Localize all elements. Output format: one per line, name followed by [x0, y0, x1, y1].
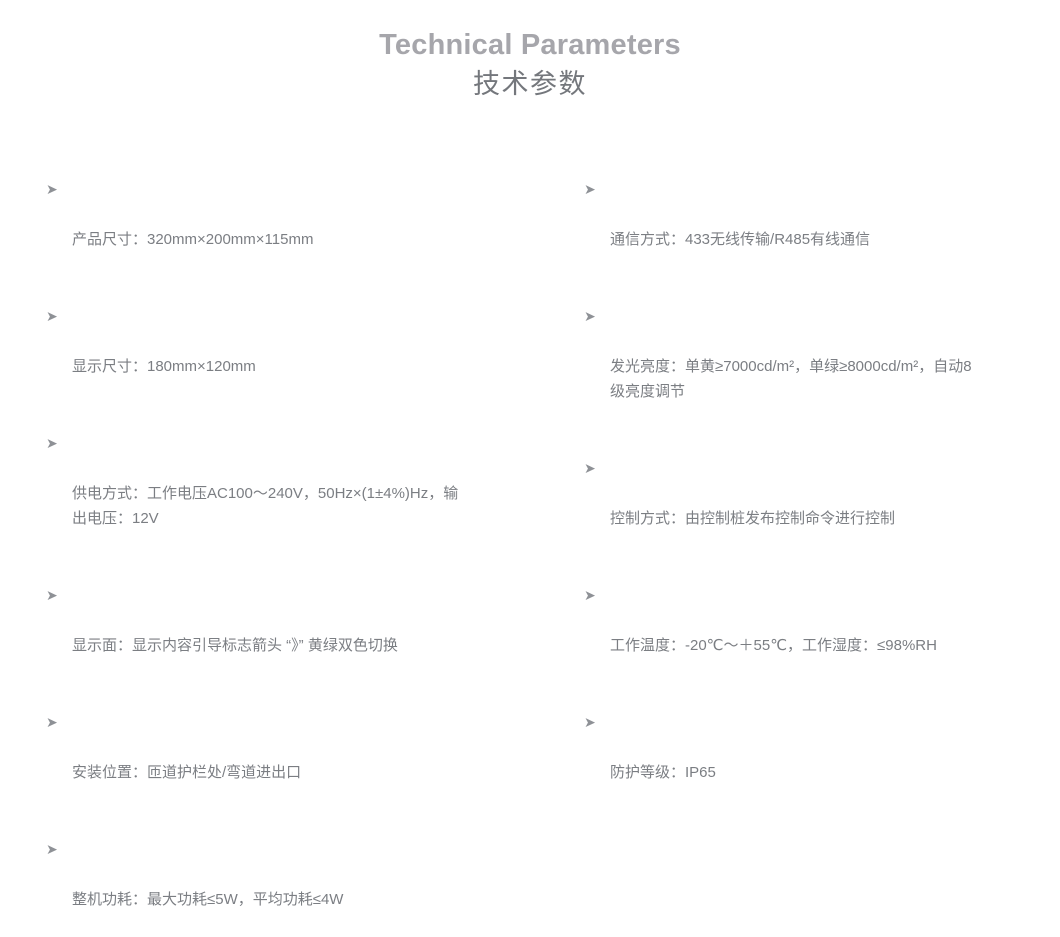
arrow-bullet-icon: ➤ — [46, 837, 64, 862]
arrow-bullet-icon: ➤ — [584, 177, 602, 202]
spec-item-control-method: ➤ 控制方式：由控制桩发布控制命令进行控制 — [584, 456, 1014, 556]
arrow-bullet-icon: ➤ — [46, 304, 64, 329]
spec-item-text: 防护等级：IP65 — [610, 760, 1014, 785]
spec-item-installation-location: ➤ 安装位置：匝道护栏处/弯道进出口 — [46, 710, 556, 810]
spec-item-text: 显示面：显示内容引导标志箭头 “》” 黄绿双色切换 — [72, 633, 556, 658]
spec-item-text: 通信方式：433无线传输/R485有线通信 — [610, 227, 1014, 252]
arrow-bullet-icon: ➤ — [46, 583, 64, 608]
spec-column-left: ➤ 产品尺寸：320mm×200mm×115mm ➤ 显示尺寸：180mm×12… — [46, 177, 556, 937]
spec-item-operating-temperature: ➤ 工作温度：-20℃～＋55℃，工作湿度：≤98%RH — [584, 583, 1014, 683]
spec-item-text: 产品尺寸：320mm×200mm×115mm — [72, 227, 556, 252]
specifications-section: ➤ 产品尺寸：320mm×200mm×115mm ➤ 显示尺寸：180mm×12… — [0, 177, 1060, 497]
page-title-english: Technical Parameters — [0, 28, 1060, 62]
spec-item-text: 安装位置：匝道护栏处/弯道进出口 — [72, 760, 556, 785]
arrow-bullet-icon: ➤ — [584, 304, 602, 329]
spec-item-power-supply: ➤ 供电方式：工作电压AC100～240V，50Hz×(1±4%)Hz，输 出电… — [46, 431, 556, 556]
page-header: Technical Parameters 技术参数 — [0, 28, 1060, 102]
arrow-bullet-icon: ➤ — [584, 583, 602, 608]
spec-item-text: 发光亮度：单黄≥7000cd/m²，单绿≥8000cd/m²，自动8 级亮度调节 — [610, 354, 1014, 404]
spec-item-protection-rating: ➤ 防护等级：IP65 — [584, 710, 1014, 810]
spec-column-right: ➤ 通信方式：433无线传输/R485有线通信 ➤ 发光亮度：单黄≥7000cd… — [584, 177, 1014, 810]
arrow-bullet-icon: ➤ — [584, 710, 602, 735]
spec-item-text: 控制方式：由控制桩发布控制命令进行控制 — [610, 506, 1014, 531]
spec-item-display-surface: ➤ 显示面：显示内容引导标志箭头 “》” 黄绿双色切换 — [46, 583, 556, 683]
spec-item-text: 显示尺寸：180mm×120mm — [72, 354, 556, 379]
spec-item-communication-method: ➤ 通信方式：433无线传输/R485有线通信 — [584, 177, 1014, 277]
spec-item-text: 整机功耗：最大功耗≤5W，平均功耗≤4W — [72, 887, 556, 912]
spec-item-text: 供电方式：工作电压AC100～240V，50Hz×(1±4%)Hz，输 出电压：… — [72, 481, 556, 531]
arrow-bullet-icon: ➤ — [584, 456, 602, 481]
arrow-bullet-icon: ➤ — [46, 710, 64, 735]
spec-item-product-dimensions: ➤ 产品尺寸：320mm×200mm×115mm — [46, 177, 556, 277]
spec-item-text: 工作温度：-20℃～＋55℃，工作湿度：≤98%RH — [610, 633, 1014, 658]
arrow-bullet-icon: ➤ — [46, 431, 64, 456]
arrow-bullet-icon: ➤ — [46, 177, 64, 202]
spec-item-display-dimensions: ➤ 显示尺寸：180mm×120mm — [46, 304, 556, 404]
spec-item-power-consumption: ➤ 整机功耗：最大功耗≤5W，平均功耗≤4W — [46, 837, 556, 937]
spec-item-luminous-brightness: ➤ 发光亮度：单黄≥7000cd/m²，单绿≥8000cd/m²，自动8 级亮度… — [584, 304, 1014, 429]
page-title-chinese: 技术参数 — [0, 66, 1060, 102]
